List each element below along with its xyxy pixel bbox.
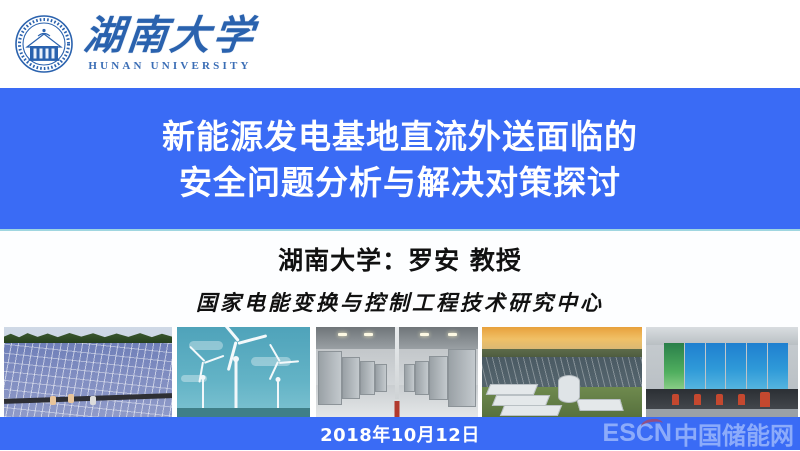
turbine-mast (277, 380, 279, 408)
wind-turbines-photo (177, 327, 310, 417)
video-wall-screen (768, 343, 788, 391)
wind-turbine (202, 362, 203, 408)
research-center-name: 国家电能变换与控制工程技术研究中心 (196, 287, 604, 317)
equipment-cabinet (429, 356, 448, 400)
operator-chair (694, 394, 701, 405)
aerial-solar-plant-photo (482, 327, 642, 417)
video-wall-screen (664, 343, 684, 391)
ceiling-lamp (448, 333, 457, 336)
video-wall-screen (747, 343, 767, 391)
equipment-cabinet (375, 364, 387, 392)
plant-building (500, 405, 562, 416)
solar-farm-photo (4, 327, 172, 417)
presenter-name: 湖南大学：罗安 教授 (278, 241, 522, 277)
university-name-en: HUNAN UNIVERSITY (88, 60, 251, 72)
control-room-photo (646, 327, 798, 417)
wind-turbine (277, 362, 278, 408)
ceiling-lamp (338, 333, 347, 336)
hunan-university-emblem-icon (14, 14, 74, 74)
equipment-cabinet (404, 364, 415, 392)
university-name-cn: 湖南大学 (82, 16, 258, 56)
ceiling-lamp (364, 333, 373, 336)
worker-figure (68, 394, 74, 403)
wind-turbine (235, 342, 236, 408)
plant-building (486, 384, 538, 395)
equipment-cabinet (448, 349, 476, 407)
site-watermark: ESCN 中国储能网 (603, 418, 794, 449)
solar-panel-array (4, 343, 172, 417)
university-logo: 湖南大学 HUNAN UNIVERSITY (14, 14, 256, 74)
operator-chair (716, 394, 723, 405)
university-wordmark: 湖南大学 HUNAN UNIVERSITY (84, 16, 256, 72)
watermark-brand-cn: 中国储能网 (674, 416, 794, 451)
ceiling-lamp (420, 333, 429, 336)
podium (760, 392, 770, 407)
title-line-2: 安全问题分析与解决对策探讨 (179, 160, 621, 206)
title-line-1: 新能源发电基地直流外送面临的 (162, 114, 638, 160)
equipment-cabinet (360, 361, 375, 395)
worker-figure (90, 396, 96, 405)
turbine-hub (275, 377, 280, 382)
ground-strip (177, 408, 310, 417)
video-wall-screen (685, 343, 705, 391)
equipment-cabinet (318, 351, 342, 405)
plant-building (576, 399, 623, 411)
operator-chair (672, 394, 679, 405)
slide-header: 湖南大学 HUNAN UNIVERSITY (0, 0, 800, 88)
photo-strip (0, 327, 800, 417)
cooling-tank (558, 375, 580, 403)
presenter-block: 湖南大学：罗安 教授 国家电能变换与控制工程技术研究中心 (0, 231, 800, 327)
hall-column (395, 327, 399, 399)
video-wall-screen (726, 343, 746, 391)
converter-station-photo (316, 327, 478, 417)
video-wall-screen (706, 343, 726, 391)
title-banner: 新能源发电基地直流外送面临的 安全问题分析与解决对策探讨 (0, 88, 800, 231)
floor-marker (395, 401, 400, 417)
worker-figure (50, 396, 56, 405)
operator-chair (738, 394, 745, 405)
presentation-title-slide: 湖南大学 HUNAN UNIVERSITY 新能源发电基地直流外送面临的 安全问… (0, 0, 800, 450)
turbine-mast (234, 360, 237, 408)
turbine-mast (202, 378, 204, 408)
equipment-cabinet (415, 361, 429, 395)
video-wall (664, 343, 788, 391)
equipment-cabinet (342, 357, 360, 399)
